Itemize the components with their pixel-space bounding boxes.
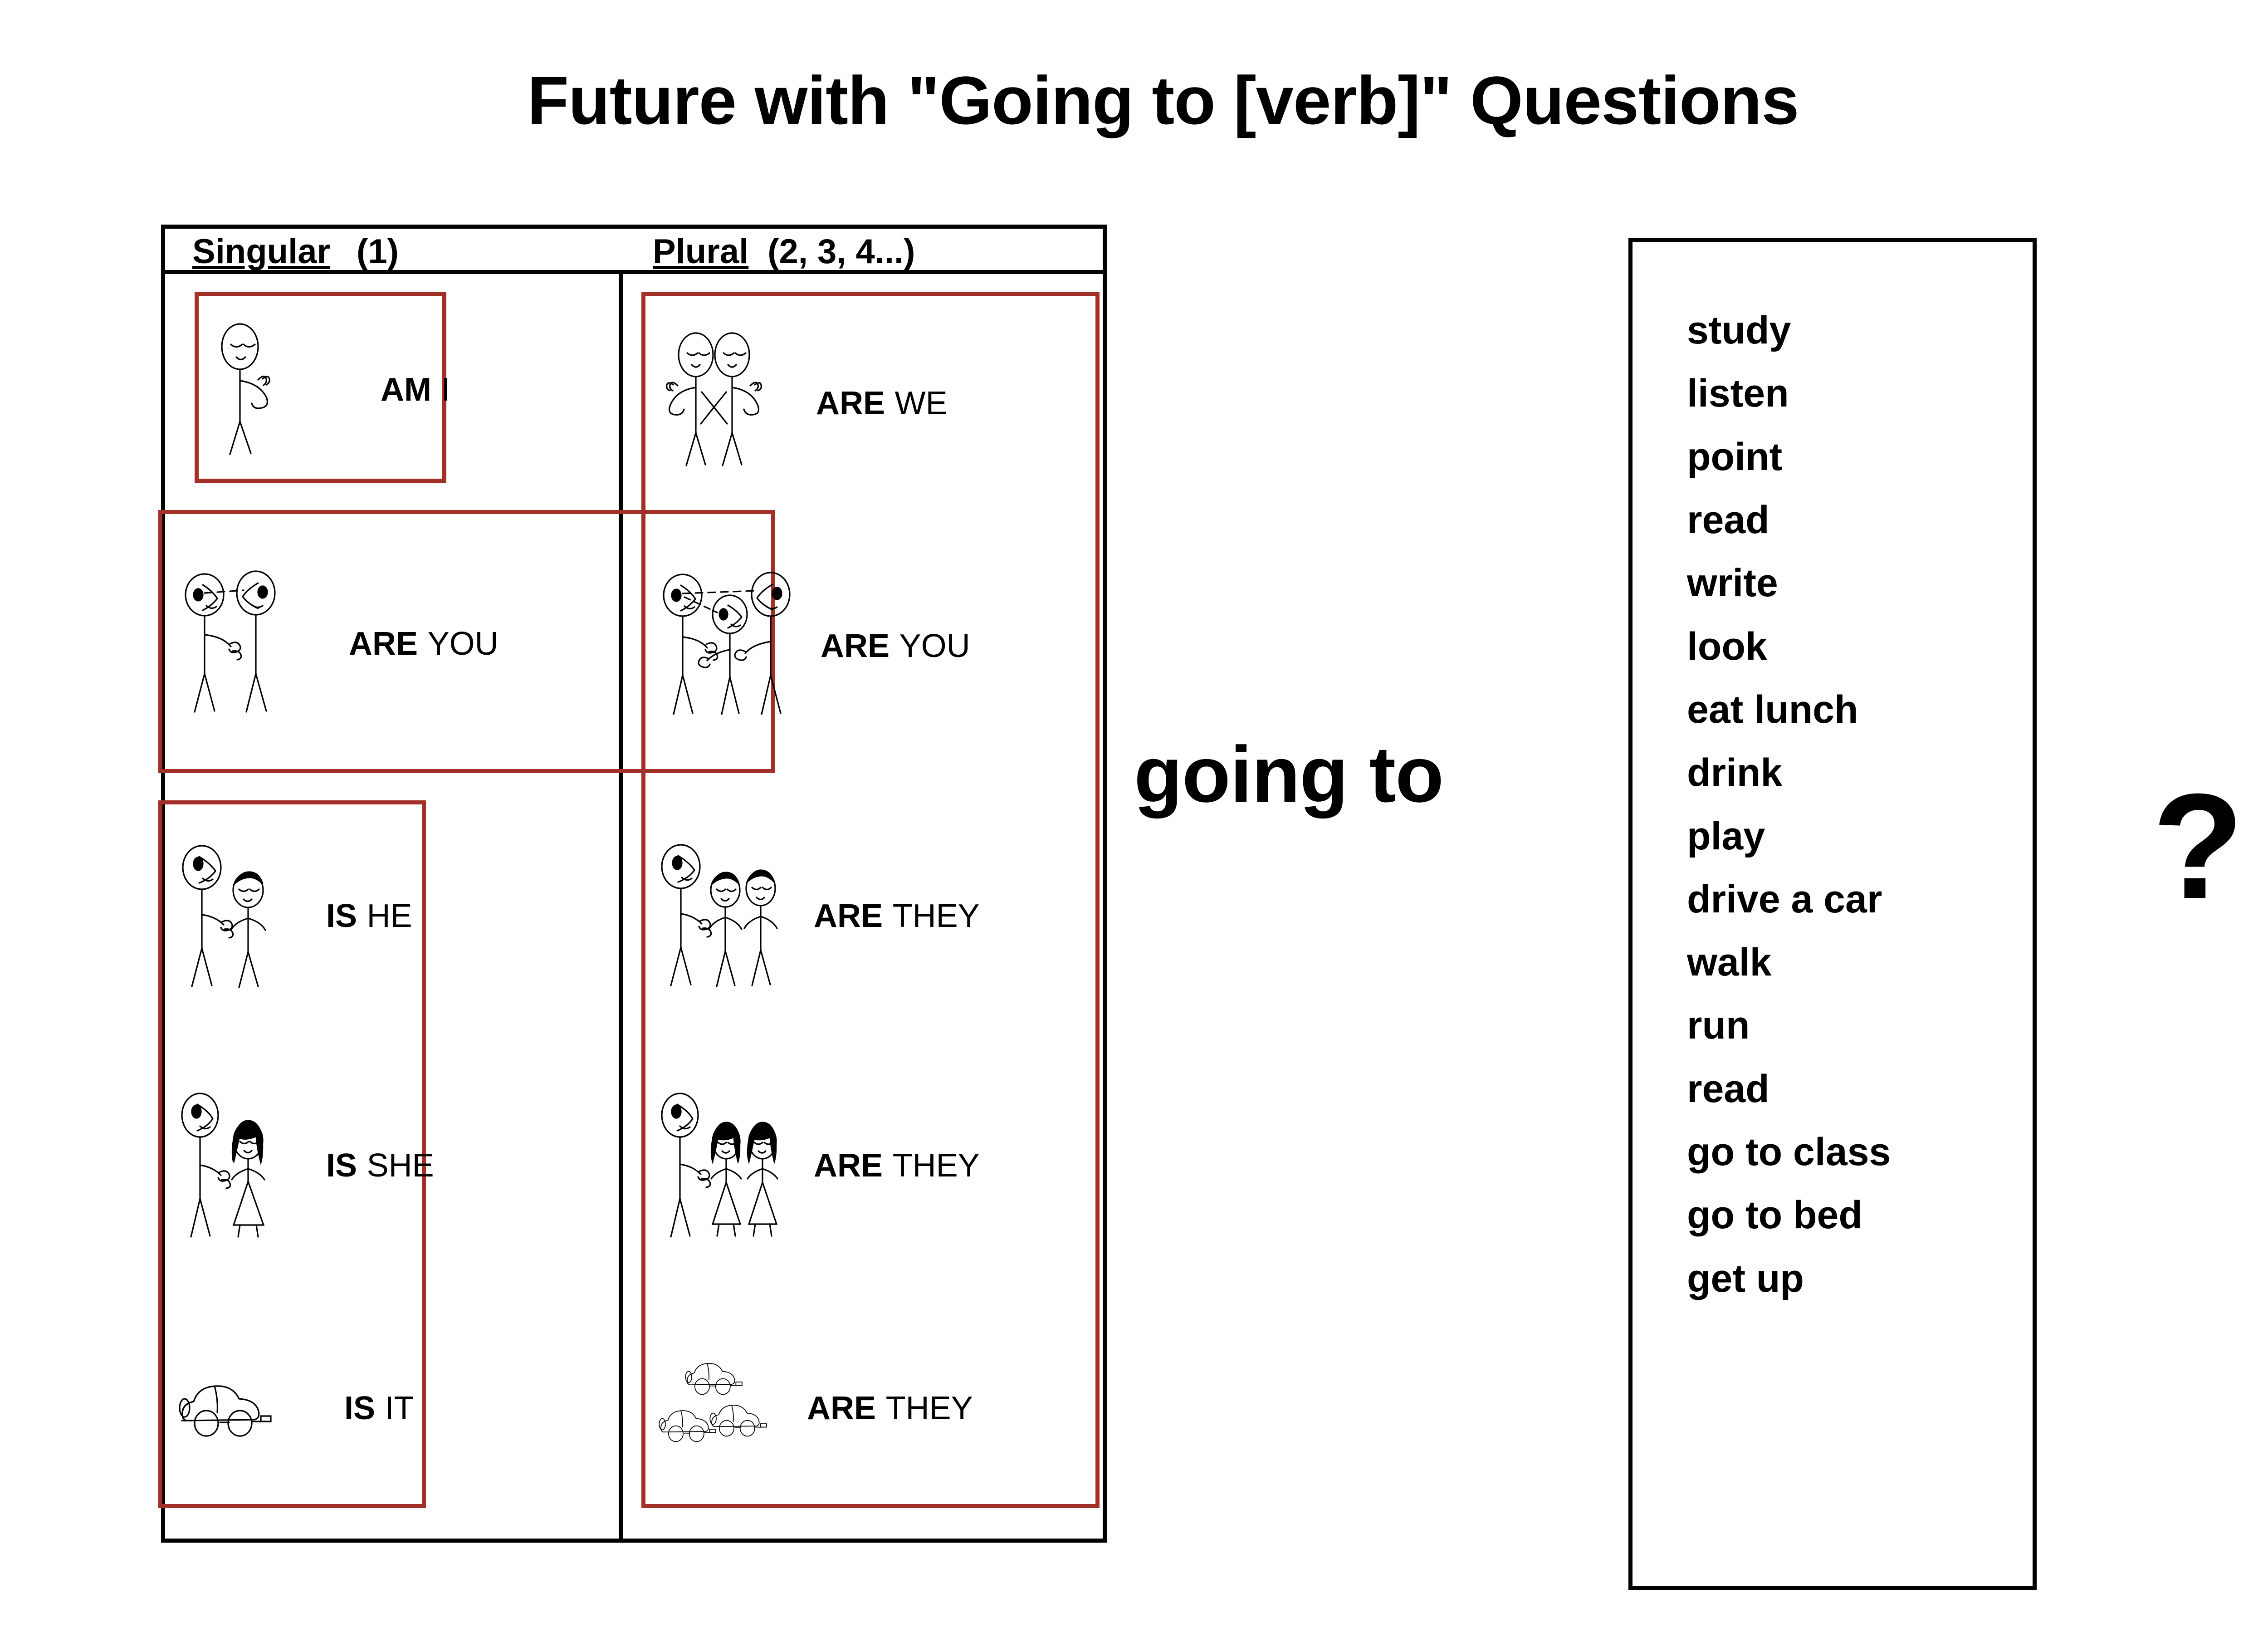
verb-item: drive a car bbox=[1687, 868, 1891, 931]
cell-is-she: ISSHE bbox=[176, 1068, 630, 1263]
pronoun-you: YOU bbox=[428, 626, 499, 662]
label-are-you-singular: AREYOU bbox=[349, 627, 499, 660]
verb-item: listen bbox=[1687, 362, 1891, 425]
verb-item: study bbox=[1687, 299, 1891, 362]
header-label-plural: Plural bbox=[653, 232, 748, 271]
pronoun-i: I bbox=[441, 372, 450, 408]
cell-is-it: ISIT bbox=[176, 1318, 630, 1499]
header-count-singular: (1) bbox=[357, 232, 399, 271]
cell-am-i: AMI bbox=[208, 315, 607, 465]
verb-item: drink bbox=[1687, 741, 1891, 804]
verb-item: play bbox=[1687, 805, 1891, 868]
cell-are-they-cars: ARETHEY bbox=[657, 1318, 1093, 1499]
figure-three-cars bbox=[657, 1318, 780, 1499]
figure-one-car bbox=[176, 1318, 294, 1499]
label-is-he: ISHE bbox=[326, 900, 412, 932]
verb-list: study listen point read write look eat l… bbox=[1687, 299, 1891, 1310]
cell-are-we: AREWE bbox=[657, 306, 1093, 501]
figure-one-person-pointing-at-self bbox=[208, 315, 313, 465]
verb-am: AM bbox=[381, 372, 431, 408]
figure-person-pointing-at-woman bbox=[176, 1068, 294, 1263]
pronoun-table: Singular (1) Plural (2, 3, 4...) bbox=[161, 225, 1107, 1543]
table-header-row: Singular (1) Plural (2, 3, 4...) bbox=[165, 229, 1103, 274]
label-are-you-plural: AREYOU bbox=[821, 630, 970, 662]
verb-item: point bbox=[1687, 426, 1891, 489]
verb-item: get up bbox=[1687, 1247, 1891, 1310]
verb-are: ARE bbox=[349, 626, 418, 662]
cell-are-you-singular: AREYOU bbox=[176, 537, 630, 750]
cell-are-you-plural: AREYOU bbox=[657, 542, 1093, 750]
verb-are: ARE bbox=[816, 385, 885, 422]
verb-item: go to class bbox=[1687, 1121, 1891, 1184]
question-mark: ? bbox=[2152, 771, 2244, 921]
pronoun-he: HE bbox=[367, 898, 412, 934]
worksheet-page: Future with "Going to [verb]" Questions … bbox=[0, 0, 2268, 1637]
verb-are: ARE bbox=[807, 1390, 876, 1426]
pronoun-they: THEY bbox=[893, 898, 980, 934]
verb-list-box: study listen point read write look eat l… bbox=[1628, 238, 2037, 1590]
header-count-plural: (2, 3, 4...) bbox=[767, 232, 915, 271]
label-are-they-cars: ARETHEY bbox=[807, 1392, 973, 1425]
verb-item: go to bed bbox=[1687, 1184, 1891, 1247]
verb-item: read bbox=[1687, 489, 1891, 552]
pronoun-it: IT bbox=[385, 1390, 414, 1426]
verb-item: walk bbox=[1687, 931, 1891, 994]
pronoun-you: YOU bbox=[899, 628, 970, 664]
figure-two-people-pointing-at-themselves bbox=[657, 306, 793, 501]
figure-person-pointing-at-two-men bbox=[657, 818, 793, 1014]
pronoun-she: SHE bbox=[367, 1147, 434, 1184]
label-are-they-men: ARETHEY bbox=[814, 900, 980, 932]
label-are-we: AREWE bbox=[816, 387, 948, 420]
cell-is-he: ISHE bbox=[176, 818, 630, 1014]
pronoun-they: THEY bbox=[893, 1147, 980, 1184]
verb-item: write bbox=[1687, 552, 1891, 615]
pronoun-they: THEY bbox=[886, 1390, 973, 1426]
figure-three-people-facing-one-pointing bbox=[657, 542, 802, 750]
verb-are: ARE bbox=[814, 898, 883, 934]
cell-are-they-men: ARETHEY bbox=[657, 818, 1093, 1014]
column-header-singular: Singular (1) bbox=[192, 229, 399, 274]
verb-is: IS bbox=[326, 898, 357, 934]
figure-person-pointing-at-two-women bbox=[657, 1068, 793, 1263]
verb-is: IS bbox=[326, 1147, 357, 1184]
cell-are-they-women: ARETHEY bbox=[657, 1068, 1093, 1263]
page-title: Future with "Going to [verb]" Questions bbox=[0, 61, 2268, 140]
verb-item: eat lunch bbox=[1687, 678, 1891, 741]
figure-person-pointing-at-man bbox=[176, 818, 294, 1014]
pronoun-we: WE bbox=[895, 385, 948, 422]
header-label-singular: Singular bbox=[192, 232, 330, 271]
label-am-i: AMI bbox=[381, 373, 450, 406]
verb-item: read bbox=[1687, 1058, 1891, 1121]
label-are-they-women: ARETHEY bbox=[814, 1149, 980, 1182]
column-header-plural: Plural (2, 3, 4...) bbox=[653, 229, 915, 274]
label-is-it: ISIT bbox=[344, 1392, 414, 1425]
verb-is: IS bbox=[344, 1390, 375, 1426]
verb-are: ARE bbox=[821, 628, 890, 664]
label-is-she: ISSHE bbox=[326, 1149, 434, 1182]
verb-item: look bbox=[1687, 615, 1891, 678]
going-to-phrase: going to bbox=[1134, 735, 1443, 814]
verb-are: ARE bbox=[814, 1147, 883, 1184]
figure-two-people-facing-one-pointing bbox=[176, 537, 313, 750]
verb-item: run bbox=[1687, 994, 1891, 1057]
